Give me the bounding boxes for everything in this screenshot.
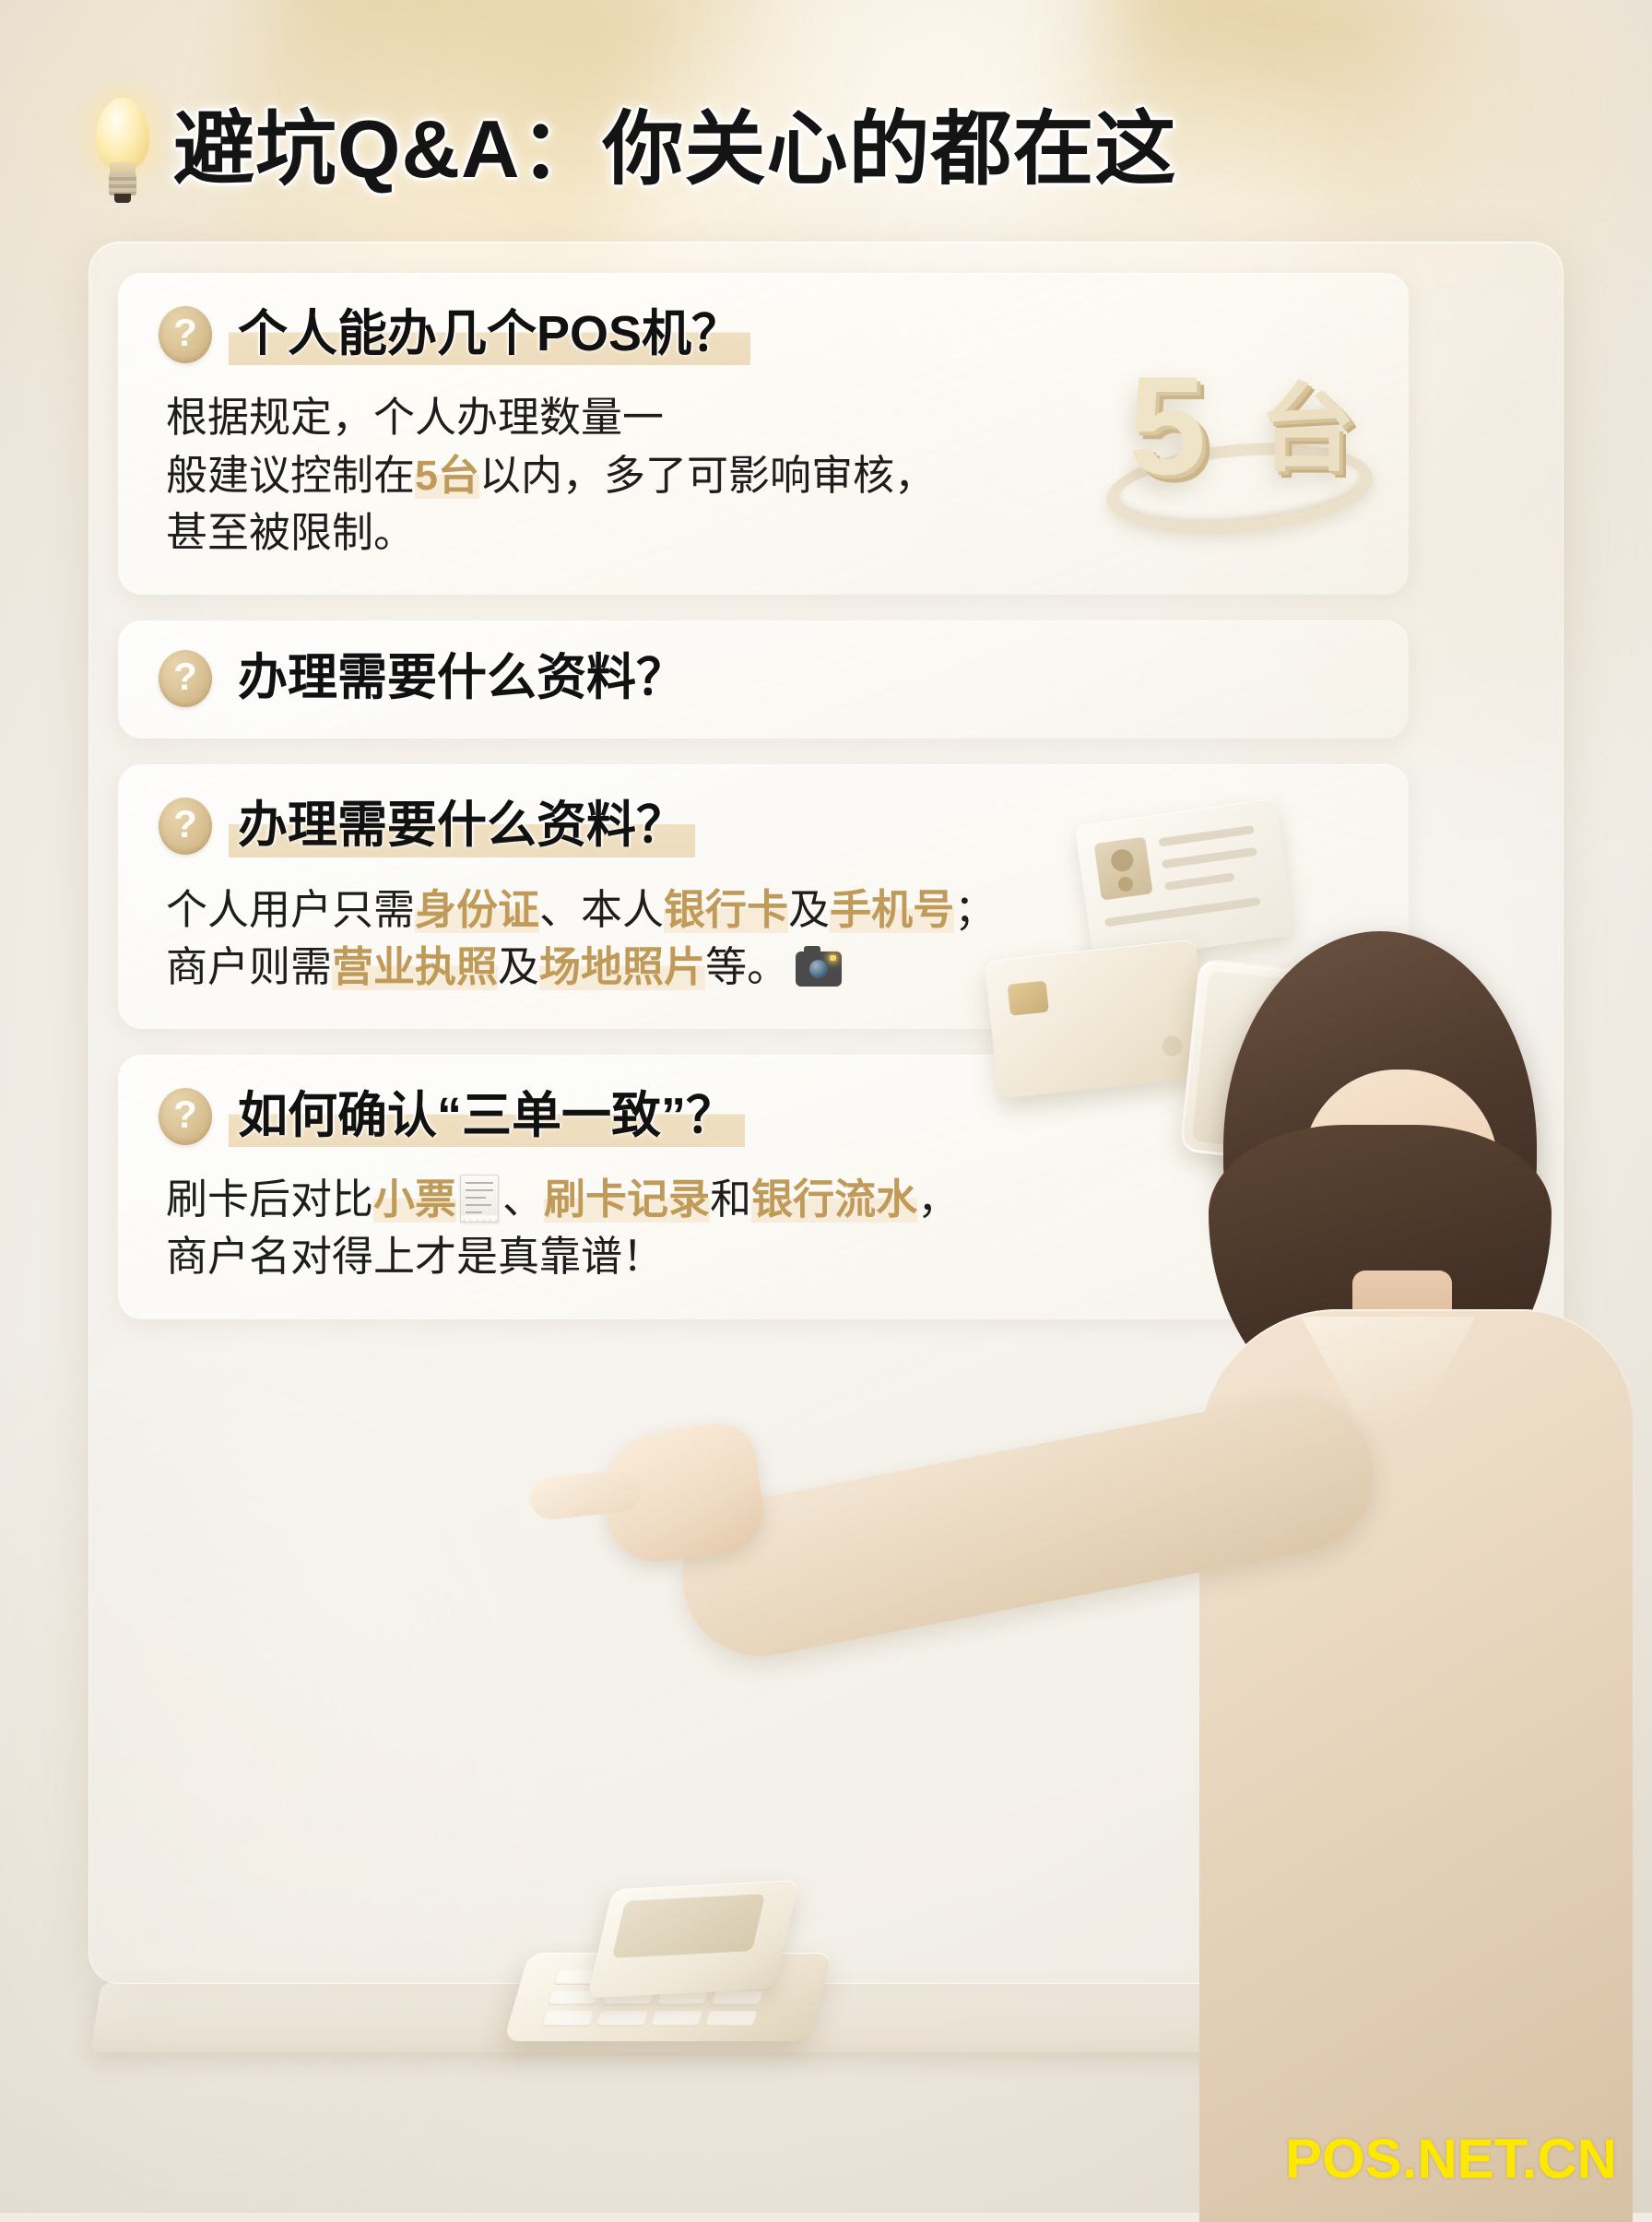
body-text: ， — [917, 1176, 959, 1223]
highlighted-term: 刷卡记录 — [544, 1176, 710, 1223]
highlighted-term: 手机号 — [830, 886, 954, 933]
body-text: 及 — [498, 943, 539, 990]
qa-card-body-line: 根据规定，个人办理数量一 — [166, 389, 1368, 446]
body-text: 商户名对得上才是真靠谱！ — [166, 1233, 664, 1280]
qa-card-body-line: 般建议控制在5台以内，多了可影响审核， — [166, 447, 1368, 504]
body-text: 刷卡后对比 — [166, 1176, 373, 1223]
qa-card-header: ?个人能办几个POS机？ — [159, 304, 1368, 365]
qa-card-header: ?办理需要什么资料？ — [159, 648, 1368, 709]
body-text: 般建议控制在 — [166, 452, 415, 499]
body-text: 甚至被限制。 — [166, 509, 415, 556]
body-text: 以内，多了可影响审核， — [479, 452, 936, 499]
qa-card-body-line: 甚至被限制。 — [166, 504, 1368, 561]
page-header: 避坑Q&A：你关心的都在这 — [88, 89, 1195, 210]
body-text: 个人用户只需 — [166, 886, 415, 933]
page-title: 避坑Q&A：你关心的都在这 — [173, 109, 1177, 190]
question-mark-icon: ? — [159, 650, 212, 707]
body-text: 商户则需 — [166, 943, 332, 990]
watermark: POS.NET.CN — [1285, 2127, 1617, 2191]
body-text: ； — [954, 886, 996, 933]
qa-card-header: ?办理需要什么资料？ — [159, 796, 1368, 857]
highlighted-term: 小票 — [373, 1176, 456, 1223]
illustration-woman-pointing — [1120, 931, 1652, 2213]
body-text: 及 — [788, 886, 830, 933]
body-text: 、本人 — [539, 886, 664, 933]
qa-card-title: 如何确认“三单一致”？ — [229, 1086, 745, 1147]
highlighted-term: 5台 — [415, 452, 479, 499]
highlighted-term: 营业执照 — [332, 943, 498, 990]
highlighted-term: 银行卡 — [664, 886, 788, 933]
body-text: 根据规定，个人办理数量一 — [166, 394, 664, 441]
question-mark-icon: ? — [159, 1088, 212, 1145]
question-mark-icon: ? — [159, 798, 212, 855]
camera-icon — [796, 951, 842, 987]
receipt-icon — [460, 1175, 499, 1223]
qa-card[interactable]: ?个人能办几个POS机？根据规定，个人办理数量一般建议控制在5台以内，多了可影响… — [118, 273, 1409, 595]
qa-card-title: 办理需要什么资料？ — [229, 796, 695, 857]
qa-card-title: 办理需要什么资料？ — [229, 648, 695, 709]
qa-card-body: 根据规定，个人办理数量一般建议控制在5台以内，多了可影响审核，甚至被限制。 — [159, 389, 1368, 561]
body-text: 、 — [502, 1176, 544, 1223]
qa-card[interactable]: ?办理需要什么资料？ — [118, 621, 1409, 739]
highlighted-term: 银行流水 — [751, 1176, 917, 1223]
qa-card-title: 个人能办几个POS机？ — [229, 304, 750, 365]
body-text: 等。 — [705, 943, 788, 990]
body-text: 和 — [710, 1176, 751, 1223]
lightbulb-icon — [88, 96, 157, 203]
qa-card-body-line: 个人用户只需身份证、本人银行卡及手机号； — [166, 881, 1368, 939]
highlighted-term: 身份证 — [415, 886, 539, 933]
question-mark-icon: ? — [159, 306, 212, 363]
highlighted-term: 场地照片 — [539, 943, 705, 990]
